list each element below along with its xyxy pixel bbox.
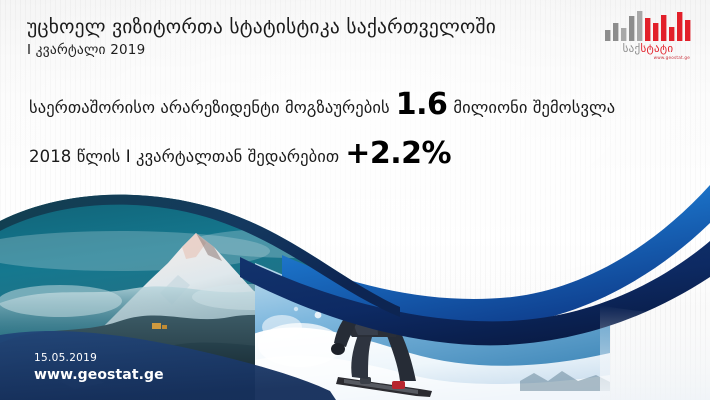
geostat-logo[interactable]: საქსტატი www.geostat.ge xyxy=(602,8,694,64)
logo-bar xyxy=(653,23,658,41)
logo-wordmark: საქსტატი xyxy=(602,43,694,54)
header: უცხოელ ვიზიტორთა სტატისტიკა საქართველოში… xyxy=(27,16,587,58)
logo-bar xyxy=(685,20,690,41)
footer-caption: 15.05.2019 www.geostat.ge xyxy=(34,352,164,384)
stat-value: 1.6 xyxy=(390,87,454,122)
logo-bar xyxy=(605,30,610,41)
stat-row-change: 2018 წლის I კვარტალთან შედარებით +2.2% xyxy=(29,135,689,170)
statistics-block: საერთაშორისო არარეზიდენტი მოგზაურების 1.… xyxy=(29,86,689,170)
website-url[interactable]: www.geostat.ge xyxy=(34,367,164,385)
stat-prefix: საერთაშორისო არარეზიდენტი მოგზაურების xyxy=(29,98,390,117)
logo-bar xyxy=(629,16,634,41)
logo-word-red: სტატი xyxy=(640,42,673,55)
logo-bar xyxy=(661,15,666,41)
logo-bar xyxy=(621,28,626,41)
page-title: უცხოელ ვიზიტორთა სტატისტიკა საქართველოში xyxy=(27,16,587,38)
logo-bar xyxy=(613,23,618,41)
logo-bar xyxy=(677,12,682,41)
logo-url: www.geostat.ge xyxy=(602,55,694,60)
logo-bar-chart-icon xyxy=(604,8,692,41)
logo-bars-svg xyxy=(604,8,692,41)
logo-word-gray: საქ xyxy=(623,42,641,55)
publication-date: 15.05.2019 xyxy=(34,352,164,365)
stat-value: +2.2% xyxy=(339,136,457,171)
stat-row-arrivals: საერთაშორისო არარეზიდენტი მოგზაურების 1.… xyxy=(29,86,689,121)
logo-bar xyxy=(645,18,650,41)
stat-prefix: 2018 წლის I კვარტალთან შედარებით xyxy=(29,147,339,166)
stat-suffix: მილიონი შემოსვლა xyxy=(453,98,615,117)
page-subtitle: I კვარტალი 2019 xyxy=(27,42,587,58)
infographic-poster: უცხოელ ვიზიტორთა სტატისტიკა საქართველოში… xyxy=(0,0,710,400)
logo-bar xyxy=(637,11,642,41)
right-fade xyxy=(600,305,710,400)
logo-bar xyxy=(669,27,674,41)
